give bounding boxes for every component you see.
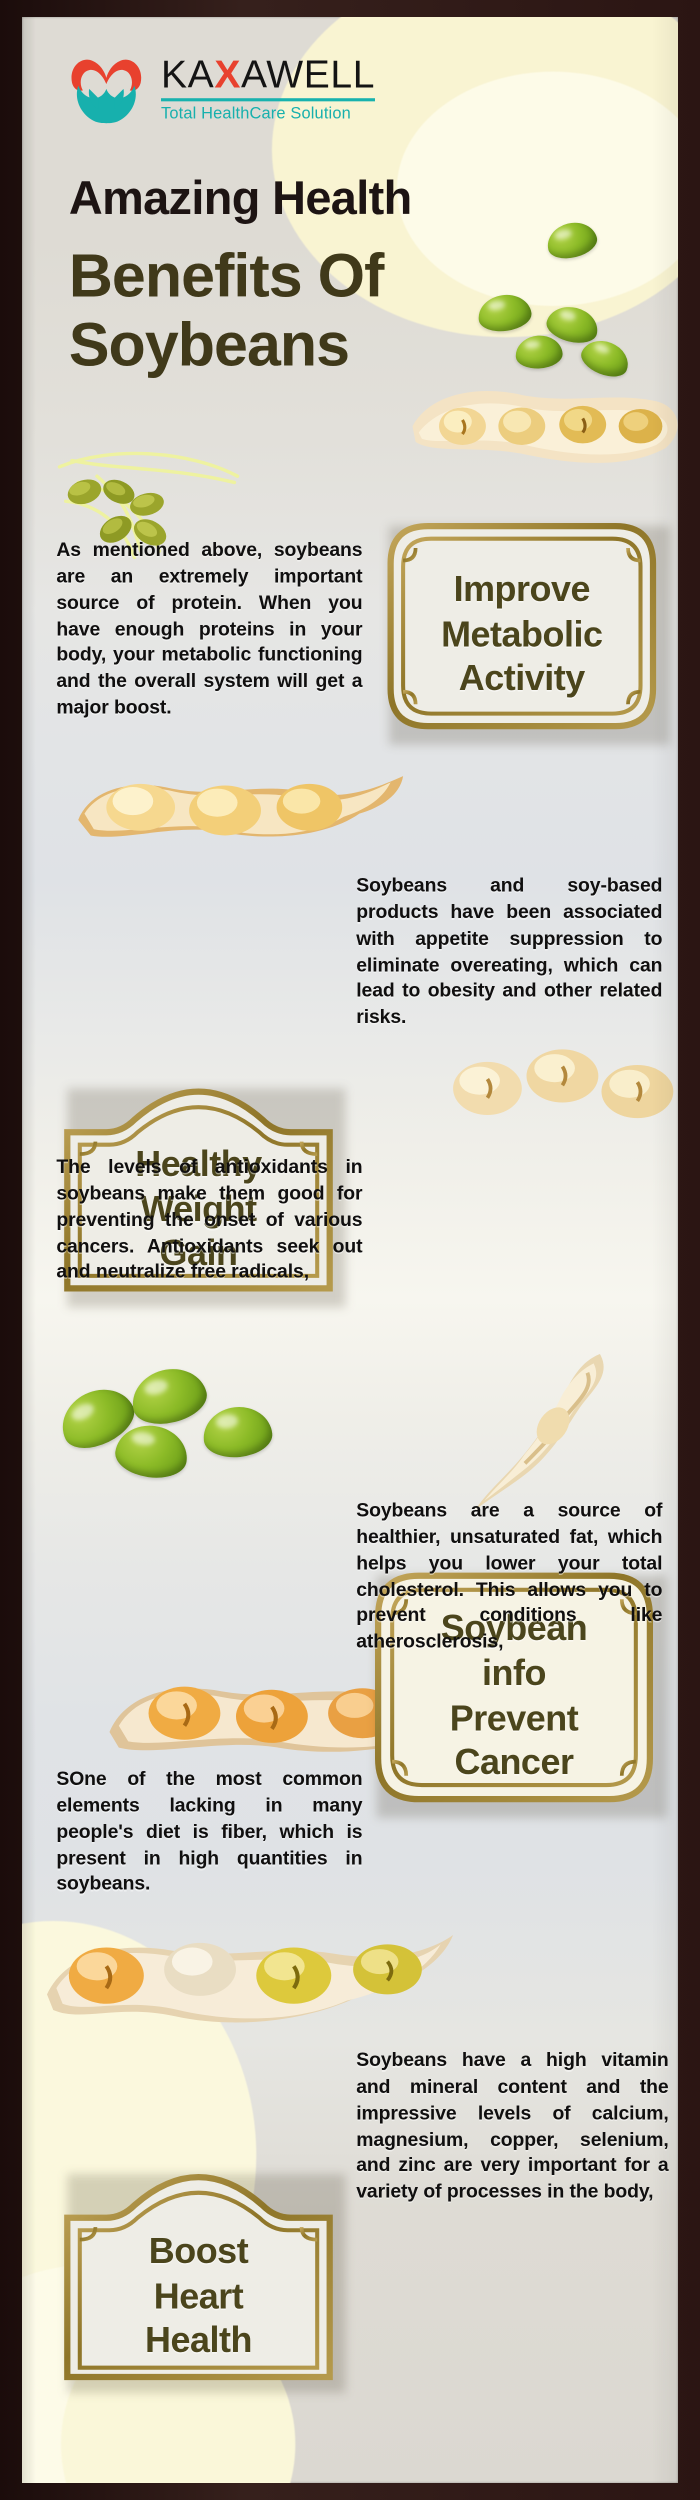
green-soybeans-art	[466, 217, 653, 389]
section-improve-bone-health-text: Soybeans have a high vitamin and mineral…	[356, 2047, 668, 2205]
section-boost-heart-health-text: Soybeans are a source of healthier, unsa…	[356, 1498, 662, 1656]
page-title-main: Benefits Of Soybeans	[69, 243, 384, 381]
page-title-line3: Soybeans	[69, 312, 384, 381]
section-body: SOne of the most common elements lacking…	[56, 1766, 362, 1898]
section-body: Soybeans have a high vitamin and mineral…	[356, 2047, 668, 2205]
page-title-line1: Amazing Health	[69, 173, 412, 226]
brand-name-part2: AWELL	[241, 53, 375, 97]
section-body: Soybeans are a source of healthier, unsa…	[356, 1498, 662, 1656]
plaque-title: Boost Heart Health	[59, 2165, 337, 2384]
infographic-canvas: KAXAWELL Total HealthCare Solution Amazi…	[22, 17, 678, 2483]
tan-soy-pod-art	[69, 767, 428, 861]
open-soy-pods-art	[406, 373, 678, 482]
tan-seeds-cluster-art	[447, 1038, 678, 1132]
twisted-soy-pod-art	[462, 1348, 649, 1520]
plaque-title: Improve Metabolic Activity	[381, 517, 662, 736]
brand-name-part1: KA	[161, 53, 214, 97]
brand-tagline: Total HealthCare Solution	[161, 105, 375, 121]
brand-underline	[161, 98, 375, 100]
infographic-page: KAXAWELL Total HealthCare Solution Amazi…	[0, 0, 700, 2500]
page-title-line2: Benefits Of	[69, 243, 384, 312]
section-boost-digestion-text: SOne of the most common elements lacking…	[56, 1766, 362, 1898]
section-improve-metabolic-activity-text: As mentioned above, soybeans are an extr…	[56, 537, 362, 721]
section-body: The levels of antioxidants in soybeans m…	[56, 1154, 362, 1286]
bright-green-beans-art	[59, 1360, 293, 1485]
section-body: Soybeans and soy-based products have bee…	[356, 873, 662, 1031]
section-body: As mentioned above, soybeans are an extr…	[56, 537, 362, 721]
plaque-boost-heart-health[interactable]: Boost Heart Health	[59, 2165, 337, 2384]
section-healthy-weight-gain-text: Soybeans and soy-based products have bee…	[356, 873, 662, 1031]
brand-wordmark: KAXAWELL	[161, 56, 375, 95]
brand-logo[interactable]: KAXAWELL Total HealthCare Solution	[66, 51, 375, 126]
section-soybean-info-prevent-cancer-text: The levels of antioxidants in soybeans m…	[56, 1154, 362, 1286]
plaque-improve-metabolic-activity[interactable]: Improve Metabolic Activity	[381, 517, 662, 736]
heart-hands-icon	[66, 51, 147, 126]
mixed-seed-pods-art	[38, 1919, 460, 2060]
brand-name-x: X	[214, 53, 241, 97]
